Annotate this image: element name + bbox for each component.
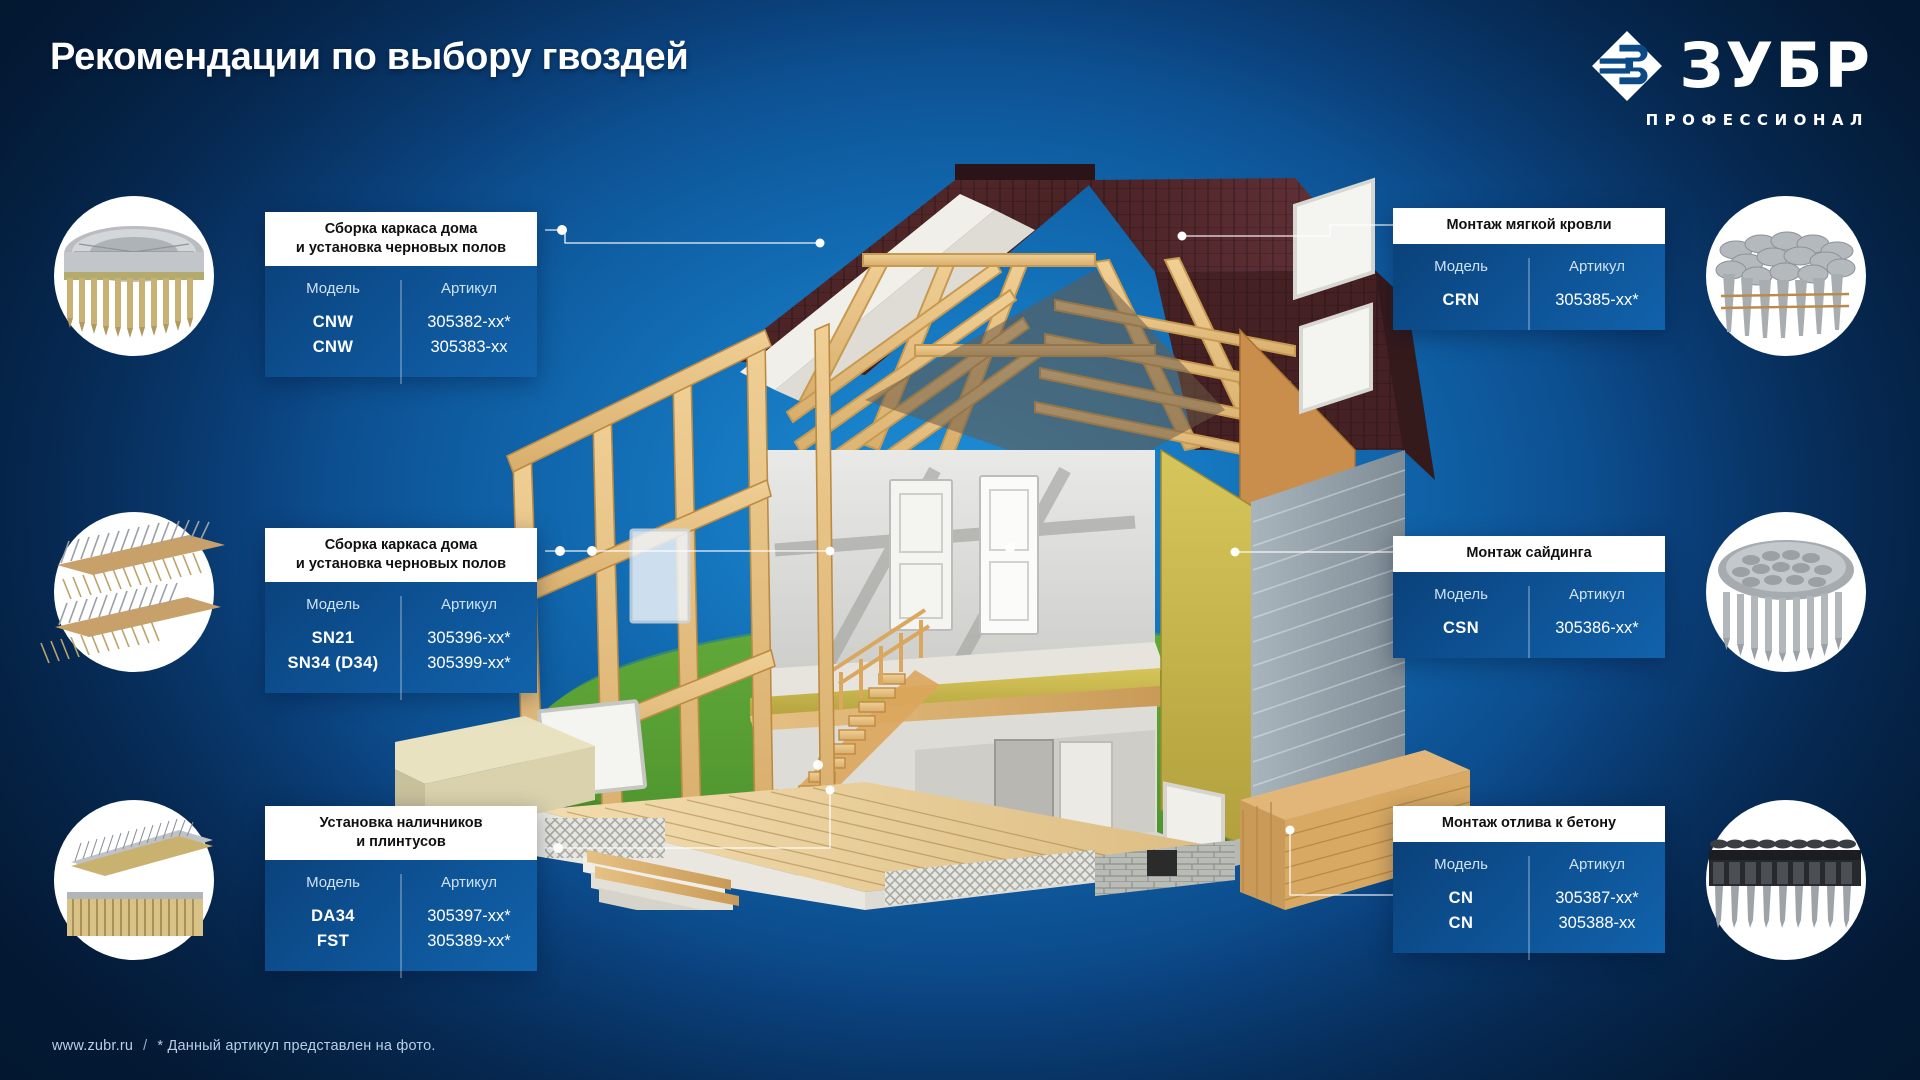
cell-article: 305388-xx [1529, 912, 1665, 937]
cell-article: 305399-xx* [401, 652, 537, 677]
column-divider [401, 280, 402, 384]
footer-note: * Данный артикул представлен на фото. [157, 1038, 435, 1054]
logo-tagline: ПРОФЕССИОНАЛ [1646, 111, 1869, 129]
column-divider [1529, 258, 1530, 330]
card-table: Модель Артикул DA34 305397-xx* FST 30538… [265, 860, 537, 971]
cell-model: CNW [265, 336, 401, 361]
product-image-siding-nail-coil [1706, 512, 1866, 672]
page-title: Рекомендации по выбору гвоздей [50, 36, 688, 79]
col-header-model: Модель [265, 280, 401, 311]
col-header-article: Артикул [401, 874, 537, 905]
product-image-roofing-nail-coil [1706, 196, 1866, 356]
callout-card-frame-assembly-coil[interactable]: Сборка каркаса дома и установка черновых… [265, 212, 537, 377]
cell-article: 305389-xx* [401, 930, 537, 955]
callout-card-concrete-flashing-mounting[interactable]: Монтаж отлива к бетону Модель Артикул CN… [1393, 806, 1665, 953]
card-title-line1: Монтаж отлива к бетону [1401, 814, 1657, 833]
card-title: Монтаж мягкой кровли [1393, 208, 1665, 244]
cell-article: 305397-xx* [401, 905, 537, 930]
card-table: Модель Артикул CNW 305382-xx* CNW 305383… [265, 266, 537, 377]
card-title: Монтаж сайдинга [1393, 536, 1665, 572]
product-image-finish-nail-strip [54, 800, 214, 960]
col-header-model: Модель [1393, 856, 1529, 887]
nail-coil-wire-icon [49, 206, 219, 346]
card-title-line2: и установка черновых полов [273, 555, 529, 574]
cell-model: CSN [1393, 617, 1529, 642]
card-title: Установка наличников и плинтусов [265, 806, 537, 860]
cell-model: CN [1393, 912, 1529, 937]
cell-model: SN34 (D34) [265, 652, 401, 677]
infographic-root: Рекомендации по выбору гвоздей ЗУБР ПРОФ… [0, 0, 1920, 1080]
product-image-nail-coil-wire [54, 196, 214, 356]
col-header-article: Артикул [1529, 856, 1665, 887]
cell-article: 305396-xx* [401, 627, 537, 652]
col-header-article: Артикул [401, 596, 537, 627]
col-header-model: Модель [1393, 258, 1529, 289]
callout-card-frame-assembly-strip[interactable]: Сборка каркаса дома и установка черновых… [265, 528, 537, 693]
card-title-line1: Монтаж мягкой кровли [1401, 216, 1657, 235]
siding-nail-coil-icon [1701, 522, 1871, 662]
column-divider [401, 596, 402, 700]
finish-nail-strip-icon [49, 810, 219, 950]
footer-separator: / [143, 1038, 147, 1054]
cutaway-house-illustration [395, 150, 1515, 910]
cell-article: 305382-xx* [401, 311, 537, 336]
concrete-nail-strip-icon [1701, 820, 1871, 940]
cell-model: CNW [265, 311, 401, 336]
card-title-line1: Сборка каркаса дома [273, 220, 529, 239]
card-title-line2: и плинтусов [273, 833, 529, 852]
col-header-model: Модель [265, 596, 401, 627]
col-header-article: Артикул [1529, 586, 1665, 617]
card-table: Модель Артикул CRN 305385-xx* [1393, 244, 1665, 330]
cell-article: 305385-xx* [1529, 289, 1665, 314]
column-divider [401, 874, 402, 978]
cell-model: CRN [1393, 289, 1529, 314]
roofing-nail-coil-icon [1701, 206, 1871, 346]
col-header-model: Модель [1393, 586, 1529, 617]
card-title-line1: Сборка каркаса дома [273, 536, 529, 555]
cell-article: 305386-xx* [1529, 617, 1665, 642]
col-header-model: Модель [265, 874, 401, 905]
product-image-concrete-nail-strip [1706, 800, 1866, 960]
footer: www.zubr.ru/* Данный артикул представлен… [52, 1038, 436, 1054]
cell-model: DA34 [265, 905, 401, 930]
callout-card-siding-mounting[interactable]: Монтаж сайдинга Модель Артикул CSN 30538… [1393, 536, 1665, 658]
column-divider [1529, 856, 1530, 960]
footer-website[interactable]: www.zubr.ru [52, 1038, 133, 1054]
cell-article: 305387-xx* [1529, 887, 1665, 912]
cell-article: 305383-xx [401, 336, 537, 361]
product-image-nail-strip-paper [54, 512, 214, 672]
card-table: Модель Артикул SN21 305396-xx* SN34 (D34… [265, 582, 537, 693]
card-table: Модель Артикул CN 305387-xx* CN 305388-x… [1393, 842, 1665, 953]
card-title: Сборка каркаса дома и установка черновых… [265, 212, 537, 266]
cell-model: CN [1393, 887, 1529, 912]
callout-card-casing-and-skirting[interactable]: Установка наличников и плинтусов Модель … [265, 806, 537, 971]
card-title-line1: Монтаж сайдинга [1401, 544, 1657, 563]
card-title-line2: и установка черновых полов [273, 239, 529, 258]
column-divider [1529, 586, 1530, 658]
cell-model: FST [265, 930, 401, 955]
card-title: Сборка каркаса дома и установка черновых… [265, 528, 537, 582]
zubr-diamond-icon [1589, 28, 1665, 104]
logo-wordmark: ЗУБР [1679, 37, 1872, 96]
card-table: Модель Артикул CSN 305386-xx* [1393, 572, 1665, 658]
col-header-article: Артикул [401, 280, 537, 311]
col-header-article: Артикул [1529, 258, 1665, 289]
nail-strip-paper-icon [39, 517, 229, 667]
brand-logo: ЗУБР ПРОФЕССИОНАЛ [1589, 28, 1872, 129]
callout-card-soft-roof-mounting[interactable]: Монтаж мягкой кровли Модель Артикул CRN … [1393, 208, 1665, 330]
card-title: Монтаж отлива к бетону [1393, 806, 1665, 842]
card-title-line1: Установка наличников [273, 814, 529, 833]
cell-model: SN21 [265, 627, 401, 652]
